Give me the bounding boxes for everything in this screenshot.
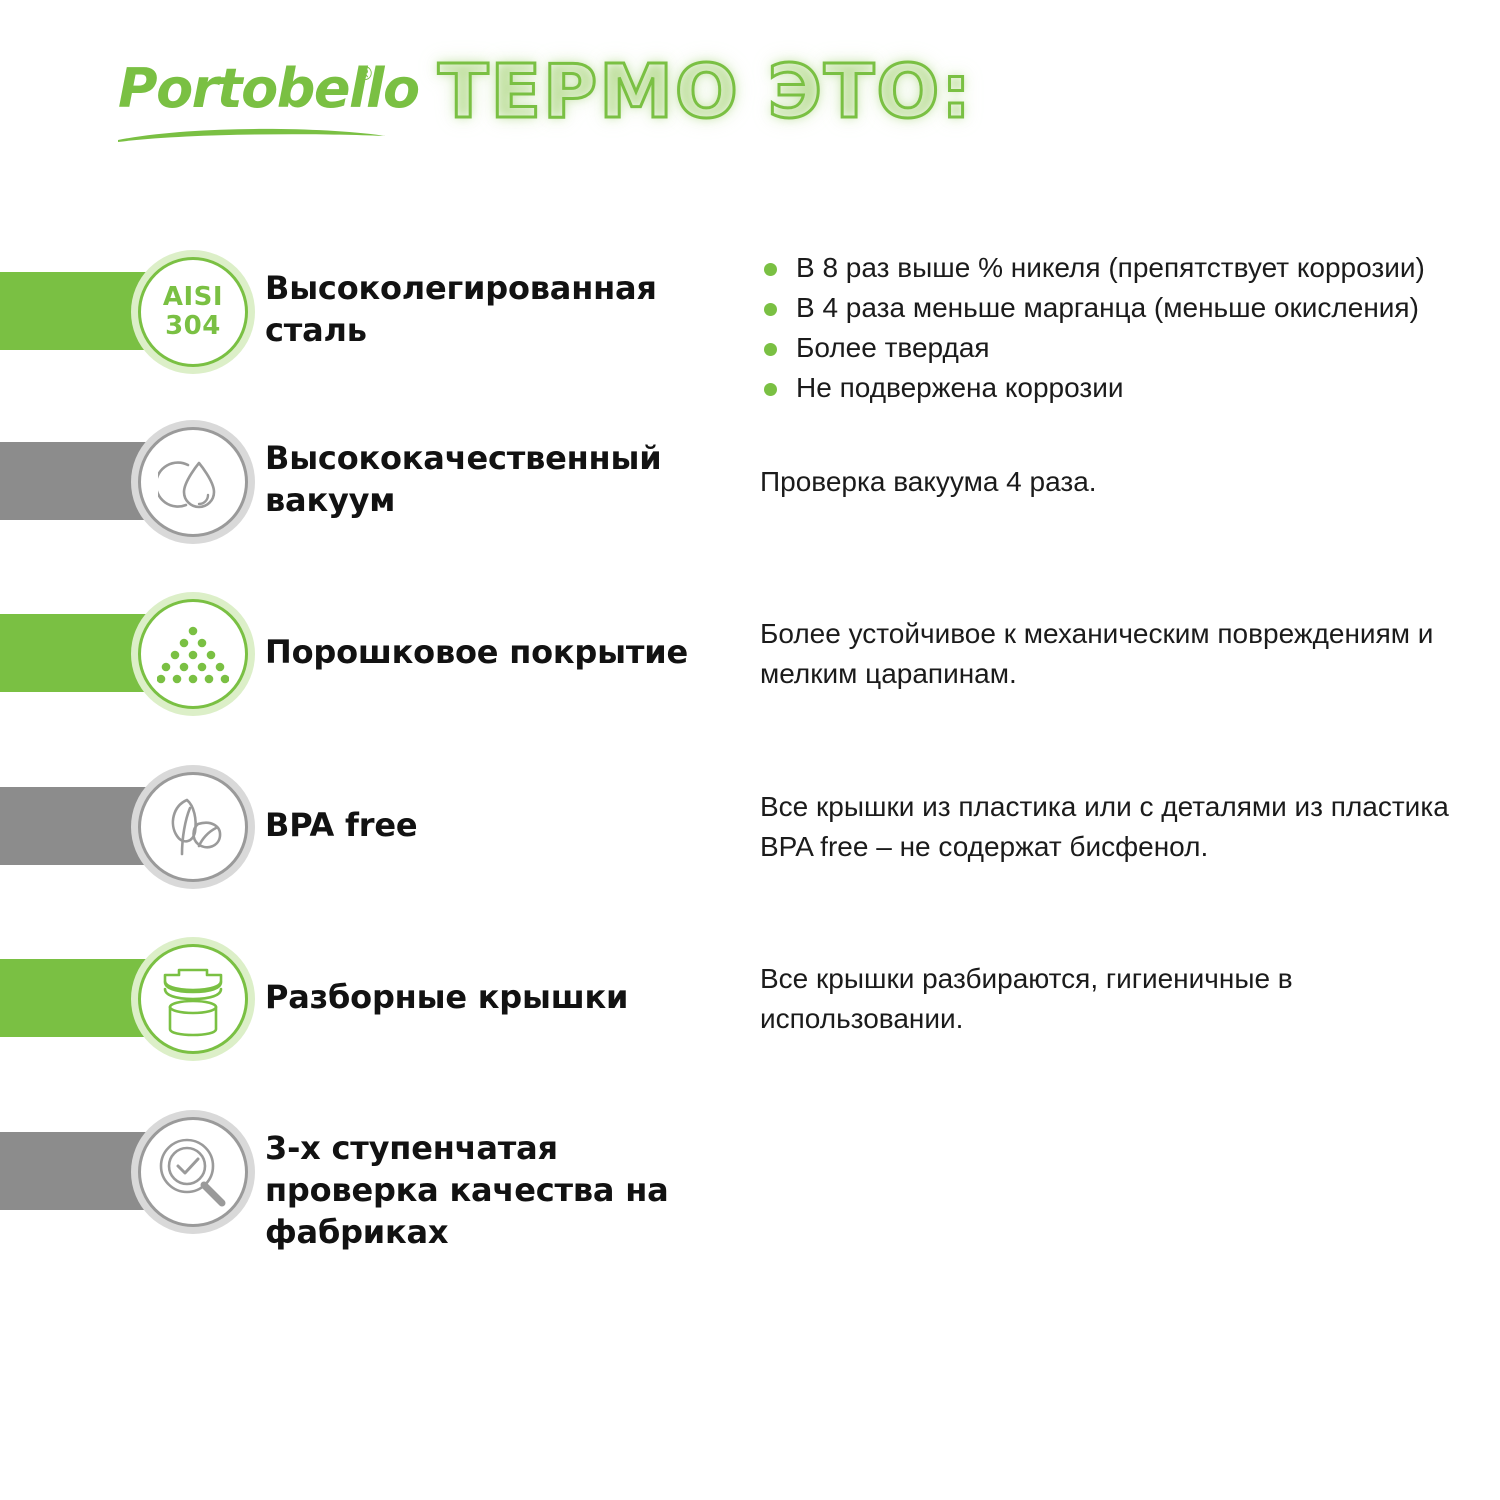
feature-heading: Разборные крышки <box>265 976 735 1018</box>
badge-glyph <box>138 599 248 709</box>
list-item: Более твердая <box>760 328 1490 368</box>
water-droplet-icon <box>131 420 255 544</box>
feature-heading: Порошковое покрытие <box>265 631 735 673</box>
badge-glyph <box>138 427 248 537</box>
feature-row-bpa-free: BPA free Все крышки из пластика или с де… <box>0 755 1500 915</box>
feature-heading: Высококачественный вакуум <box>265 437 735 521</box>
list-item: Не подвержена коррозии <box>760 368 1490 408</box>
feature-detail: Более устойчивое к механическим поврежде… <box>760 614 1480 694</box>
aisi-label: AISI <box>163 283 223 312</box>
two-leaves-icon <box>131 765 255 889</box>
feature-heading: Высоколегированная сталь <box>265 267 735 351</box>
feature-row-vacuum: Высококачественный вакуум Проверка вакуу… <box>0 410 1500 570</box>
detachable-lid-icon <box>131 937 255 1061</box>
feature-row-steel: AISI 304 Высоколегированная сталь В 8 ра… <box>0 240 1500 400</box>
badge-glyph <box>138 772 248 882</box>
feature-row-detachable-lids: Разборные крышки Все крышки разбираются,… <box>0 927 1500 1087</box>
feature-detail: Все крышки разбираются, гигиеничные в ис… <box>760 959 1480 1039</box>
badge-glyph <box>138 944 248 1054</box>
feature-detail: Проверка вакуума 4 раза. <box>760 462 1480 502</box>
list-item: В 4 раза меньше марганца (меньше окислен… <box>760 288 1490 328</box>
badge-glyph <box>138 1117 248 1227</box>
feature-bullet-list: В 8 раз выше % никеля (препятствует корр… <box>760 248 1490 408</box>
feature-row-powder-coating: Порошковое покрытие Более устойчивое к м… <box>0 582 1500 742</box>
badge-glyph: AISI 304 <box>138 257 248 367</box>
feature-heading: BPA free <box>265 804 735 846</box>
magnifier-check-icon <box>131 1110 255 1234</box>
aisi-304-badge-icon: AISI 304 <box>131 250 255 374</box>
list-item: В 8 раз выше % никеля (препятствует корр… <box>760 248 1490 288</box>
feature-list: AISI 304 Высоколегированная сталь В 8 ра… <box>0 0 1500 1500</box>
aisi-grade: 304 <box>163 312 223 341</box>
feature-heading: 3-х ступенчатая проверка качества на фаб… <box>265 1127 735 1253</box>
feature-detail: Все крышки из пластика или с деталями из… <box>760 787 1480 867</box>
feature-row-quality-check: 3-х ступенчатая проверка качества на фаб… <box>0 1100 1500 1260</box>
powder-dots-icon <box>131 592 255 716</box>
